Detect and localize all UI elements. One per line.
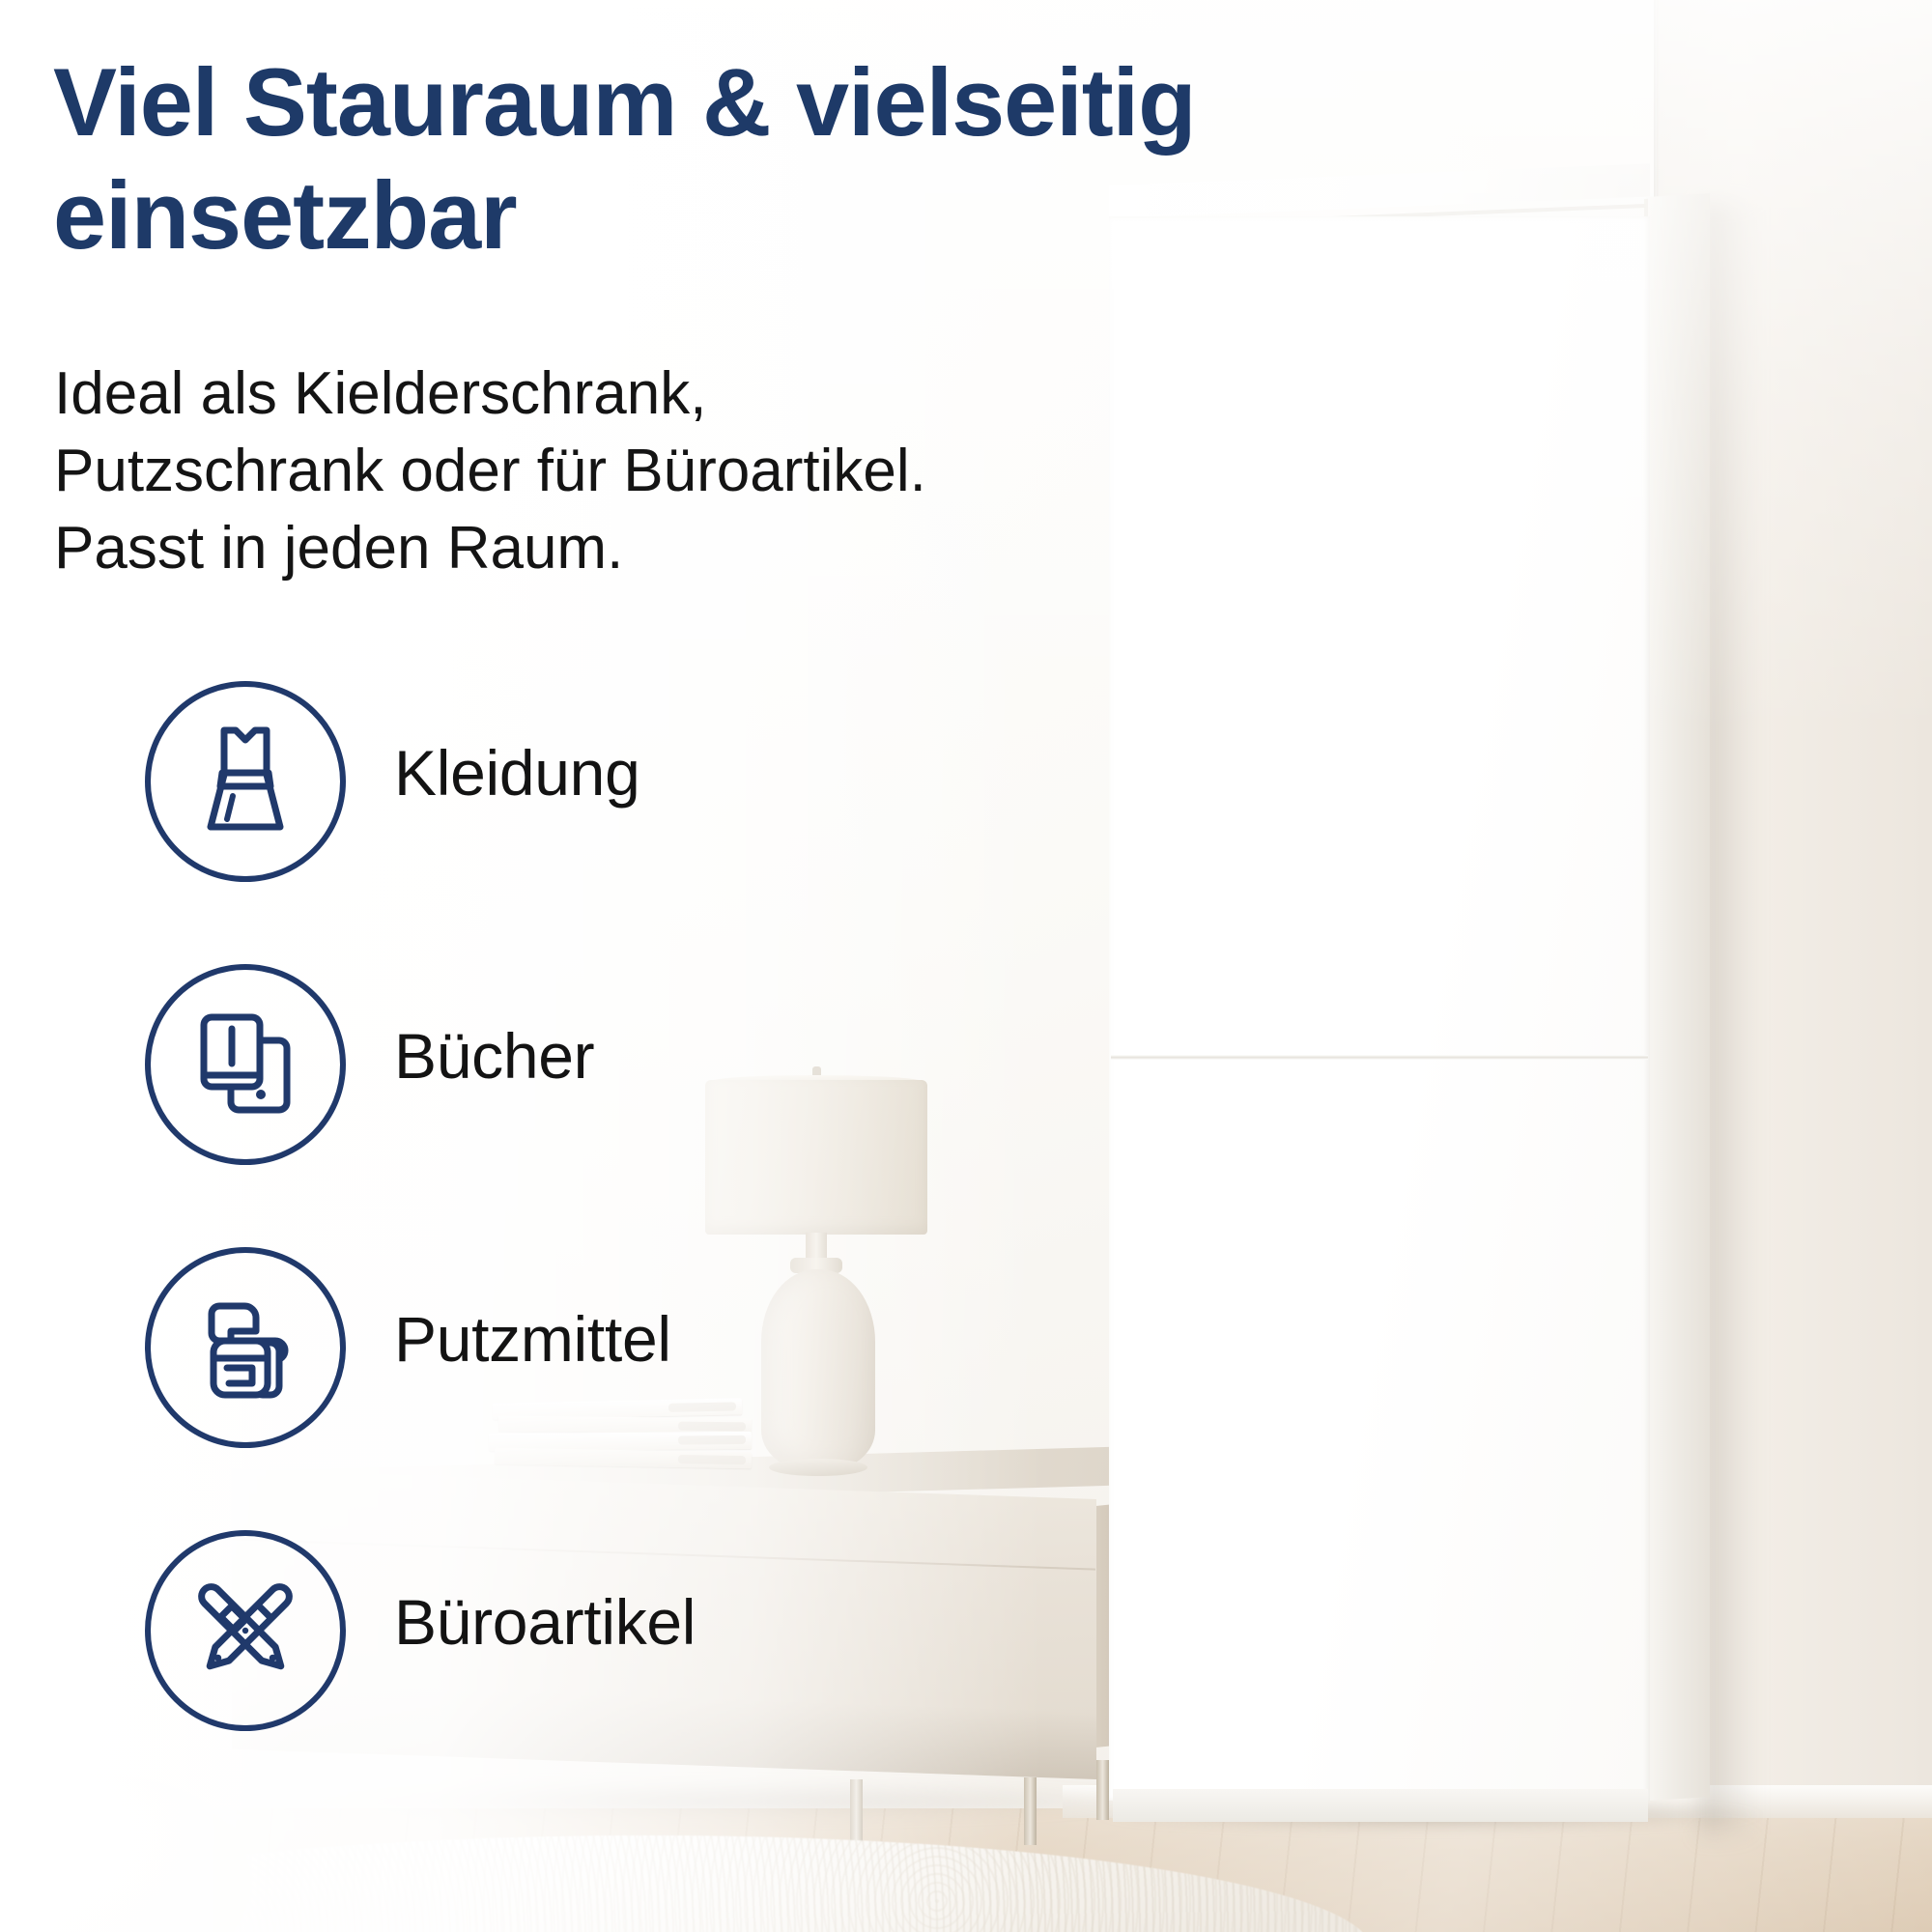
subtitle-line-1: Ideal als Kielderschrank, [54,355,1175,433]
subtitle-line-3: Passt in jeden Raum. [54,510,1175,587]
content-overlay: Viel Stauraum & vielseitig einsetzbar Id… [0,0,1932,1932]
product-feature-banner: Viel Stauraum & vielseitig einsetzbar Id… [0,0,1932,1932]
feature-item-putzmittel: Putzmittel [145,1247,1111,1530]
feature-label: Büroartikel [394,1585,696,1659]
feature-item-bueroartikel: Büroartikel [145,1530,1111,1813]
feature-label: Kleidung [394,736,639,810]
subtitle-block: Ideal als Kielderschrank, Putzschrank od… [54,355,1175,587]
feature-list: Kleidung Bücher [145,681,1111,1813]
books-icon [145,964,346,1165]
spray-bottle-icon [145,1247,346,1448]
feature-item-kleidung: Kleidung [145,681,1111,964]
subtitle-line-2: Putzschrank oder für Büroartikel. [54,433,1175,510]
crossed-pen-pencil-icon [145,1530,346,1731]
feature-item-buecher: Bücher [145,964,1111,1247]
feature-label: Putzmittel [394,1302,671,1376]
dress-icon [145,681,346,882]
feature-label: Bücher [394,1019,594,1093]
page-title: Viel Stauraum & vielseitig einsetzbar [53,46,1463,272]
